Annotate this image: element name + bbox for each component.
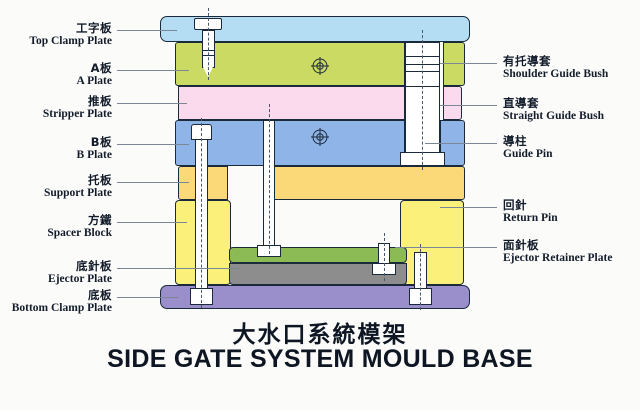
label-a-plate: A板 A Plate [77,62,112,87]
part-a-plate-right [443,42,465,86]
label-b-plate-cn: B板 [77,136,112,149]
label-shoulder-guide-bush: 有托導套 Shoulder Guide Bush [503,55,608,80]
label-straight-guide-bush-cn: 直導套 [503,97,604,110]
label-support-plate-cn: 托板 [44,174,112,187]
label-bottom-clamp-plate-en: Bottom Clamp Plate [12,302,112,315]
return-pin-left-centre-line [201,118,202,308]
ejector-pin-centre-line [269,104,270,254]
label-ejector-retainer-plate-en: Ejector Retainer Plate [503,252,612,265]
top-bolt-centre-line [208,8,209,80]
leader-a-plate [117,70,189,71]
leader-ejector-plate [117,268,239,269]
leader-return-pin [440,207,497,208]
leader-bottom-clamp-plate [117,297,179,298]
crosshair-a-plate [311,57,329,75]
label-bottom-clamp-plate: 底板 Bottom Clamp Plate [12,289,112,314]
label-ejector-plate-cn: 底針板 [48,260,112,273]
label-straight-guide-bush: 直導套 Straight Guide Bush [503,97,604,122]
title-chinese: 大水口系統模架 [0,315,640,349]
label-return-pin: 回針 Return Pin [503,199,558,224]
label-spacer-block-en: Spacer Block [47,227,112,240]
label-shoulder-guide-bush-en: Shoulder Guide Bush [503,68,608,81]
label-a-plate-en: A Plate [77,75,112,88]
label-ejector-plate: 底針板 Ejector Plate [48,260,112,285]
label-guide-pin-cn: 導柱 [503,135,553,148]
leader-top-clamp-plate [117,30,177,31]
label-shoulder-guide-bush-cn: 有托導套 [503,55,608,68]
leader-ejector-retainer-plate [395,247,497,248]
leader-support-plate [117,182,189,183]
leader-guide-pin [425,143,497,144]
title-english: SIDE GATE SYSTEM MOULD BASE [0,345,640,374]
label-return-pin-cn: 回針 [503,199,558,212]
label-b-plate-en: B Plate [77,149,112,162]
label-stripper-plate-en: Stripper Plate [43,108,112,121]
leader-spacer-block [117,222,187,223]
label-bottom-clamp-plate-cn: 底板 [12,289,112,302]
guide-pin-centre-line [422,30,423,170]
label-stripper-plate-cn: 推板 [43,95,112,108]
part-stripper-plate-left [178,86,405,120]
return-pin-right-centre-line [384,233,385,281]
label-ejector-retainer-plate-cn: 面針板 [503,239,612,252]
crosshair-b-plate [311,128,329,146]
label-spacer-block: 方鐵 Spacer Block [47,214,112,239]
clamp-bolt-right-centre-line [420,244,421,310]
leader-b-plate [117,144,189,145]
label-stripper-plate: 推板 Stripper Plate [43,95,112,120]
leader-straight-guide-bush [440,105,497,106]
label-ejector-plate-en: Ejector Plate [48,273,112,286]
label-return-pin-en: Return Pin [503,212,558,225]
label-support-plate-en: Support Plate [44,187,112,200]
label-guide-pin-en: Guide Pin [503,148,553,161]
label-top-clamp-plate-cn: 工字板 [29,22,112,35]
label-top-clamp-plate: 工字板 Top Clamp Plate [29,22,112,47]
label-b-plate: B板 B Plate [77,136,112,161]
label-top-clamp-plate-en: Top Clamp Plate [29,35,112,48]
part-spacer-block-right [400,200,464,285]
leader-shoulder-guide-bush [440,63,497,64]
label-a-plate-cn: A板 [77,62,112,75]
leader-stripper-plate [117,103,187,104]
part-stripper-plate-right [443,86,462,120]
label-guide-pin: 導柱 Guide Pin [503,135,553,160]
label-support-plate: 托板 Support Plate [44,174,112,199]
part-support-plate-right [268,166,465,200]
label-straight-guide-bush-en: Straight Guide Bush [503,110,604,123]
label-ejector-retainer-plate: 面針板 Ejector Retainer Plate [503,239,612,264]
label-spacer-block-cn: 方鐵 [47,214,112,227]
